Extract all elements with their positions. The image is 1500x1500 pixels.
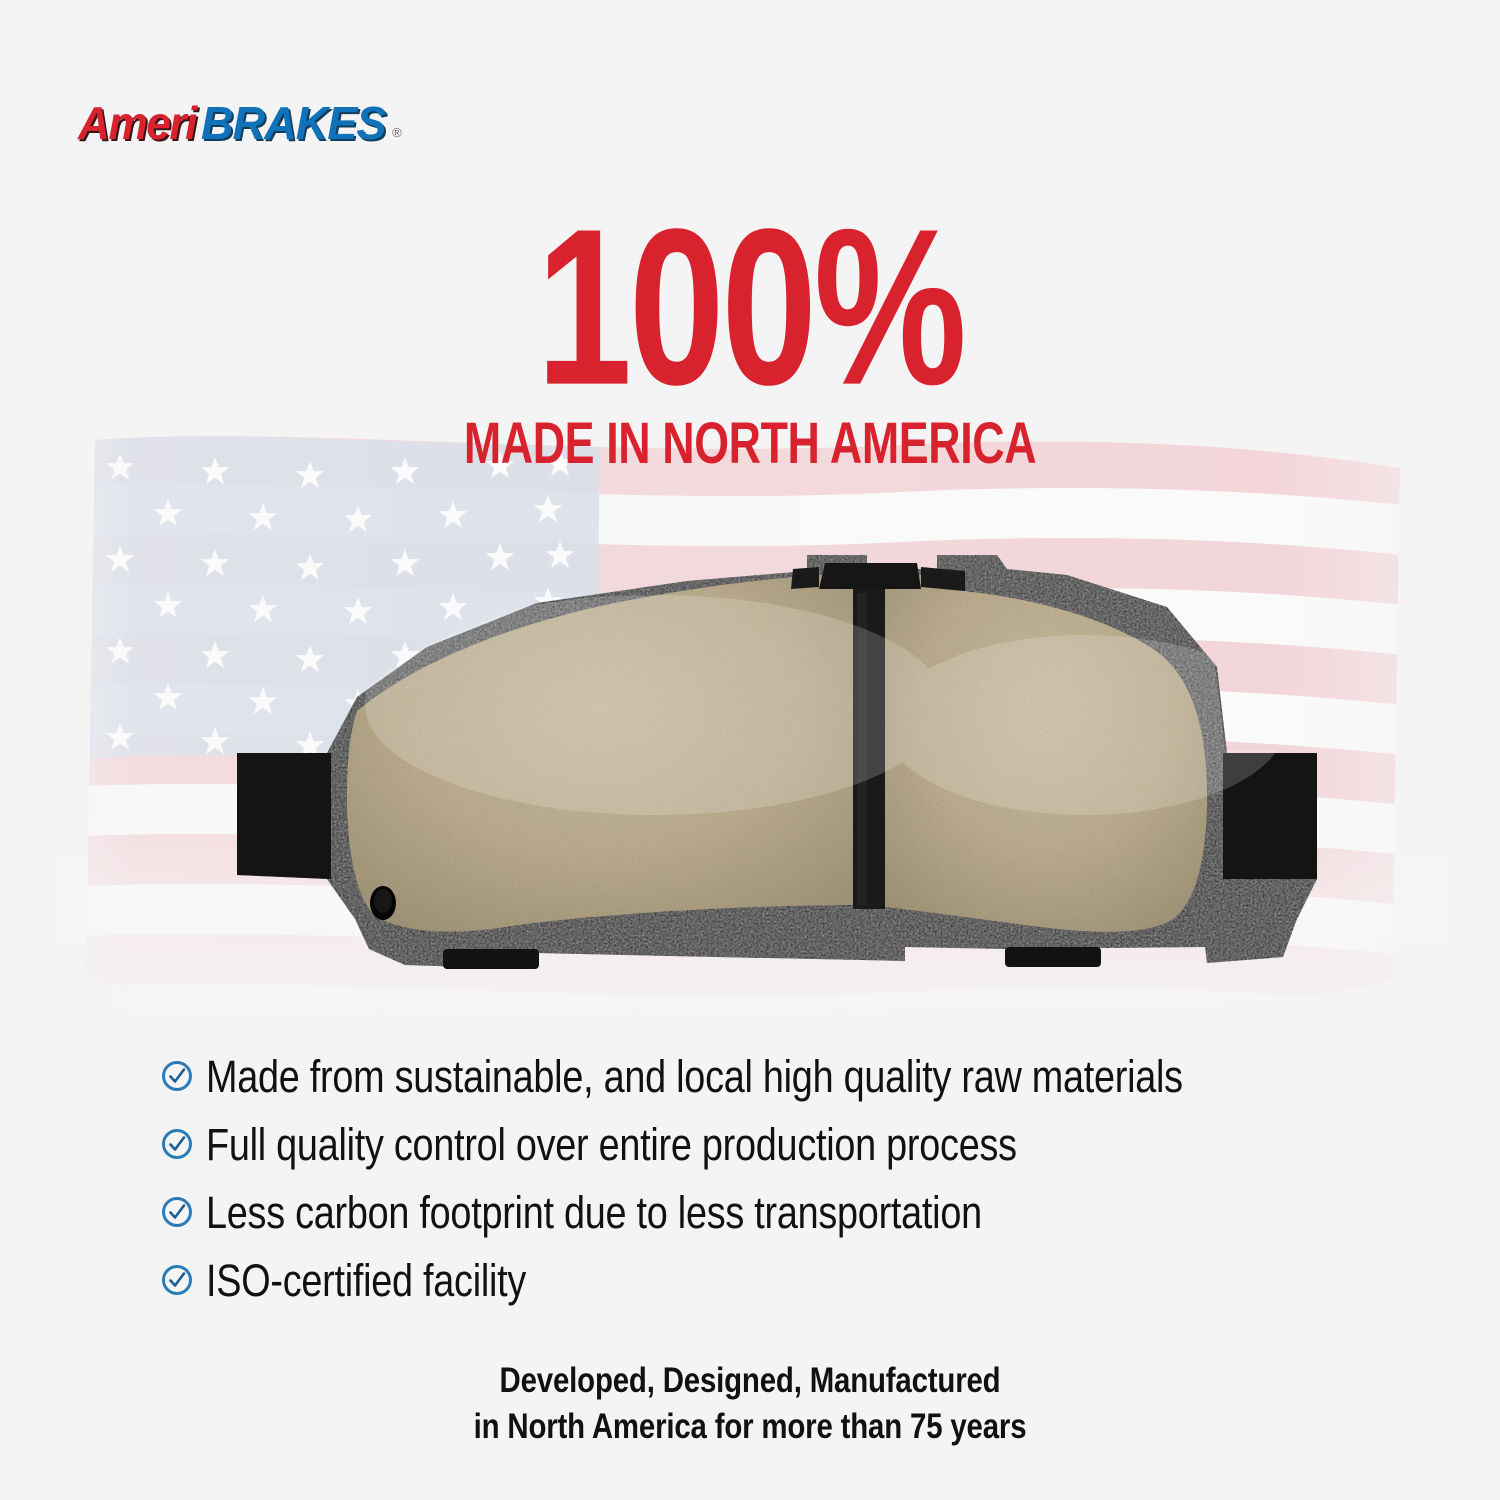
footer-line-2: in North America for more than 75 years — [120, 1404, 1380, 1450]
registered-trademark-icon: ® — [392, 126, 402, 139]
logo-text-brakes: BRAKES — [201, 100, 385, 146]
list-item: Full quality control over entire product… — [160, 1110, 1360, 1178]
check-circle-icon — [160, 1059, 194, 1093]
headline-subtitle: MADE IN NORTH AMERICA — [150, 414, 1350, 472]
list-item: ISO-certified facility — [160, 1246, 1360, 1314]
product-marketing-card: AmeriBRAKES® — [0, 0, 1500, 1500]
brand-logo: AmeriBRAKES® — [78, 100, 402, 146]
check-circle-icon — [160, 1263, 194, 1297]
headline-percent: 100% — [135, 196, 1365, 419]
check-circle-icon — [160, 1127, 194, 1161]
list-item-label: Less carbon footprint due to less transp… — [206, 1190, 982, 1235]
feature-list: Made from sustainable, and local high qu… — [160, 1042, 1360, 1314]
brake-pad-graphic — [205, 545, 1335, 985]
footer-line-1: Developed, Designed, Manufactured — [120, 1358, 1380, 1404]
list-item-label: Full quality control over entire product… — [206, 1122, 1017, 1167]
logo-text-ameri: Ameri — [78, 100, 196, 146]
brake-pad-product-image — [205, 545, 1335, 985]
check-circle-icon — [160, 1195, 194, 1229]
list-item: Made from sustainable, and local high qu… — [160, 1042, 1360, 1110]
locating-hole — [370, 886, 396, 920]
list-item-label: Made from sustainable, and local high qu… — [206, 1054, 1183, 1099]
list-item: Less carbon footprint due to less transp… — [160, 1178, 1360, 1246]
footer-block: Developed, Designed, Manufactured in Nor… — [0, 1358, 1500, 1450]
list-item-label: ISO-certified facility — [206, 1258, 526, 1303]
